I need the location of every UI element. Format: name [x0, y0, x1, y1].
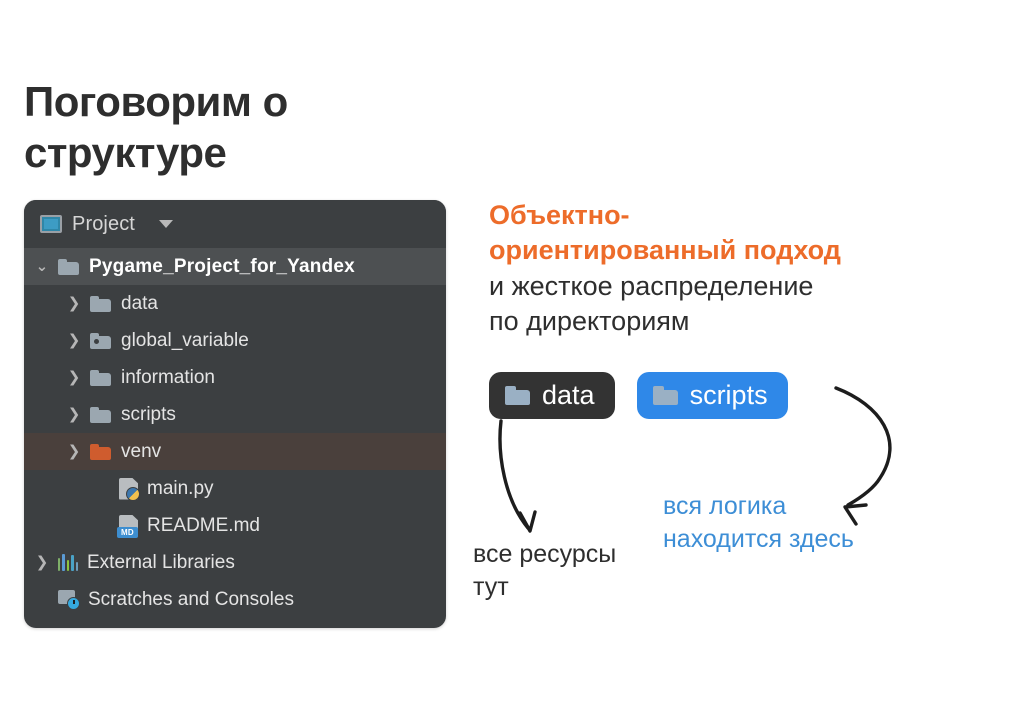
scratches-clock-icon	[58, 590, 80, 610]
project-panel-header[interactable]: Project	[24, 200, 446, 248]
tree-row[interactable]: MD README.md	[24, 507, 446, 544]
tree-row-label: global_variable	[121, 330, 249, 352]
tree-row[interactable]: main.py	[24, 470, 446, 507]
caption-all-resources: все ресурсы тут	[473, 538, 663, 603]
tree-row-label: Pygame_Project_for_Yandex	[89, 256, 355, 278]
chevron-right-icon[interactable]: ❯	[34, 555, 50, 570]
tree-row[interactable]: ❯ venv	[24, 433, 446, 470]
chevron-down-icon[interactable]: ⌄	[34, 259, 50, 274]
explanation-accent-text: Объектно- ориентированный подход	[489, 198, 989, 267]
folder-icon	[90, 407, 111, 423]
chip-label: scripts	[690, 380, 768, 411]
tree-row[interactable]: ❯ scripts	[24, 396, 446, 433]
chevron-right-icon[interactable]: ❯	[66, 370, 82, 385]
chevron-right-icon[interactable]: ❯	[66, 444, 82, 459]
tree-row-label: venv	[121, 441, 161, 463]
folder-source-root-icon	[90, 333, 111, 349]
page-title: Поговорим о структуре	[24, 76, 444, 178]
folder-icon	[90, 296, 111, 312]
tree-row[interactable]: ❯ data	[24, 285, 446, 322]
folder-icon	[58, 259, 79, 275]
chip-label: data	[542, 380, 595, 411]
project-panel-title: Project	[72, 213, 135, 236]
folder-icon	[90, 370, 111, 386]
tree-row-label: data	[121, 293, 158, 315]
tree-row[interactable]: ❯ information	[24, 359, 446, 396]
explanation-plain-text: и жесткое распределение по директориям	[489, 269, 989, 339]
tree-row-label: scripts	[121, 404, 176, 426]
project-tool-window: Project ⌄ Pygame_Project_for_Yandex ❯ da…	[24, 200, 446, 628]
tree-row-label: information	[121, 367, 215, 389]
tree-row[interactable]: Scratches and Consoles	[24, 581, 446, 618]
folder-icon	[505, 386, 530, 405]
folder-orange-icon	[90, 444, 111, 460]
folder-chip-group: data scripts	[489, 372, 788, 419]
tree-row-label: README.md	[147, 515, 260, 537]
chip-scripts[interactable]: scripts	[637, 372, 788, 419]
project-file-tree: ⌄ Pygame_Project_for_Yandex ❯ data ❯ glo…	[24, 248, 446, 618]
tree-row-label: External Libraries	[87, 552, 235, 574]
chevron-right-icon[interactable]: ❯	[66, 296, 82, 311]
tree-row-label: Scratches and Consoles	[88, 589, 294, 611]
arrow-head-left	[520, 512, 535, 531]
arrow-data-to-left-caption	[500, 421, 528, 528]
tree-row[interactable]: ❯ External Libraries	[24, 544, 446, 581]
tree-row-label: main.py	[147, 478, 214, 500]
project-window-icon	[40, 215, 62, 233]
chevron-down-icon[interactable]	[159, 220, 173, 228]
chevron-right-icon[interactable]: ❯	[66, 407, 82, 422]
markdown-file-icon: MD	[119, 515, 138, 537]
chevron-right-icon[interactable]: ❯	[66, 333, 82, 348]
explanation-block: Объектно- ориентированный подход и жестк…	[489, 198, 989, 339]
caption-all-logic: вся логика находится здесь	[663, 490, 933, 556]
chip-data[interactable]: data	[489, 372, 615, 419]
tree-row[interactable]: ❯ global_variable	[24, 322, 446, 359]
python-file-icon	[119, 478, 138, 500]
tree-row[interactable]: ⌄ Pygame_Project_for_Yandex	[24, 248, 446, 285]
libraries-icon	[58, 554, 78, 571]
md-badge-label: MD	[117, 527, 138, 538]
folder-icon	[653, 386, 678, 405]
arrow-scripts-to-right-caption	[836, 388, 890, 505]
